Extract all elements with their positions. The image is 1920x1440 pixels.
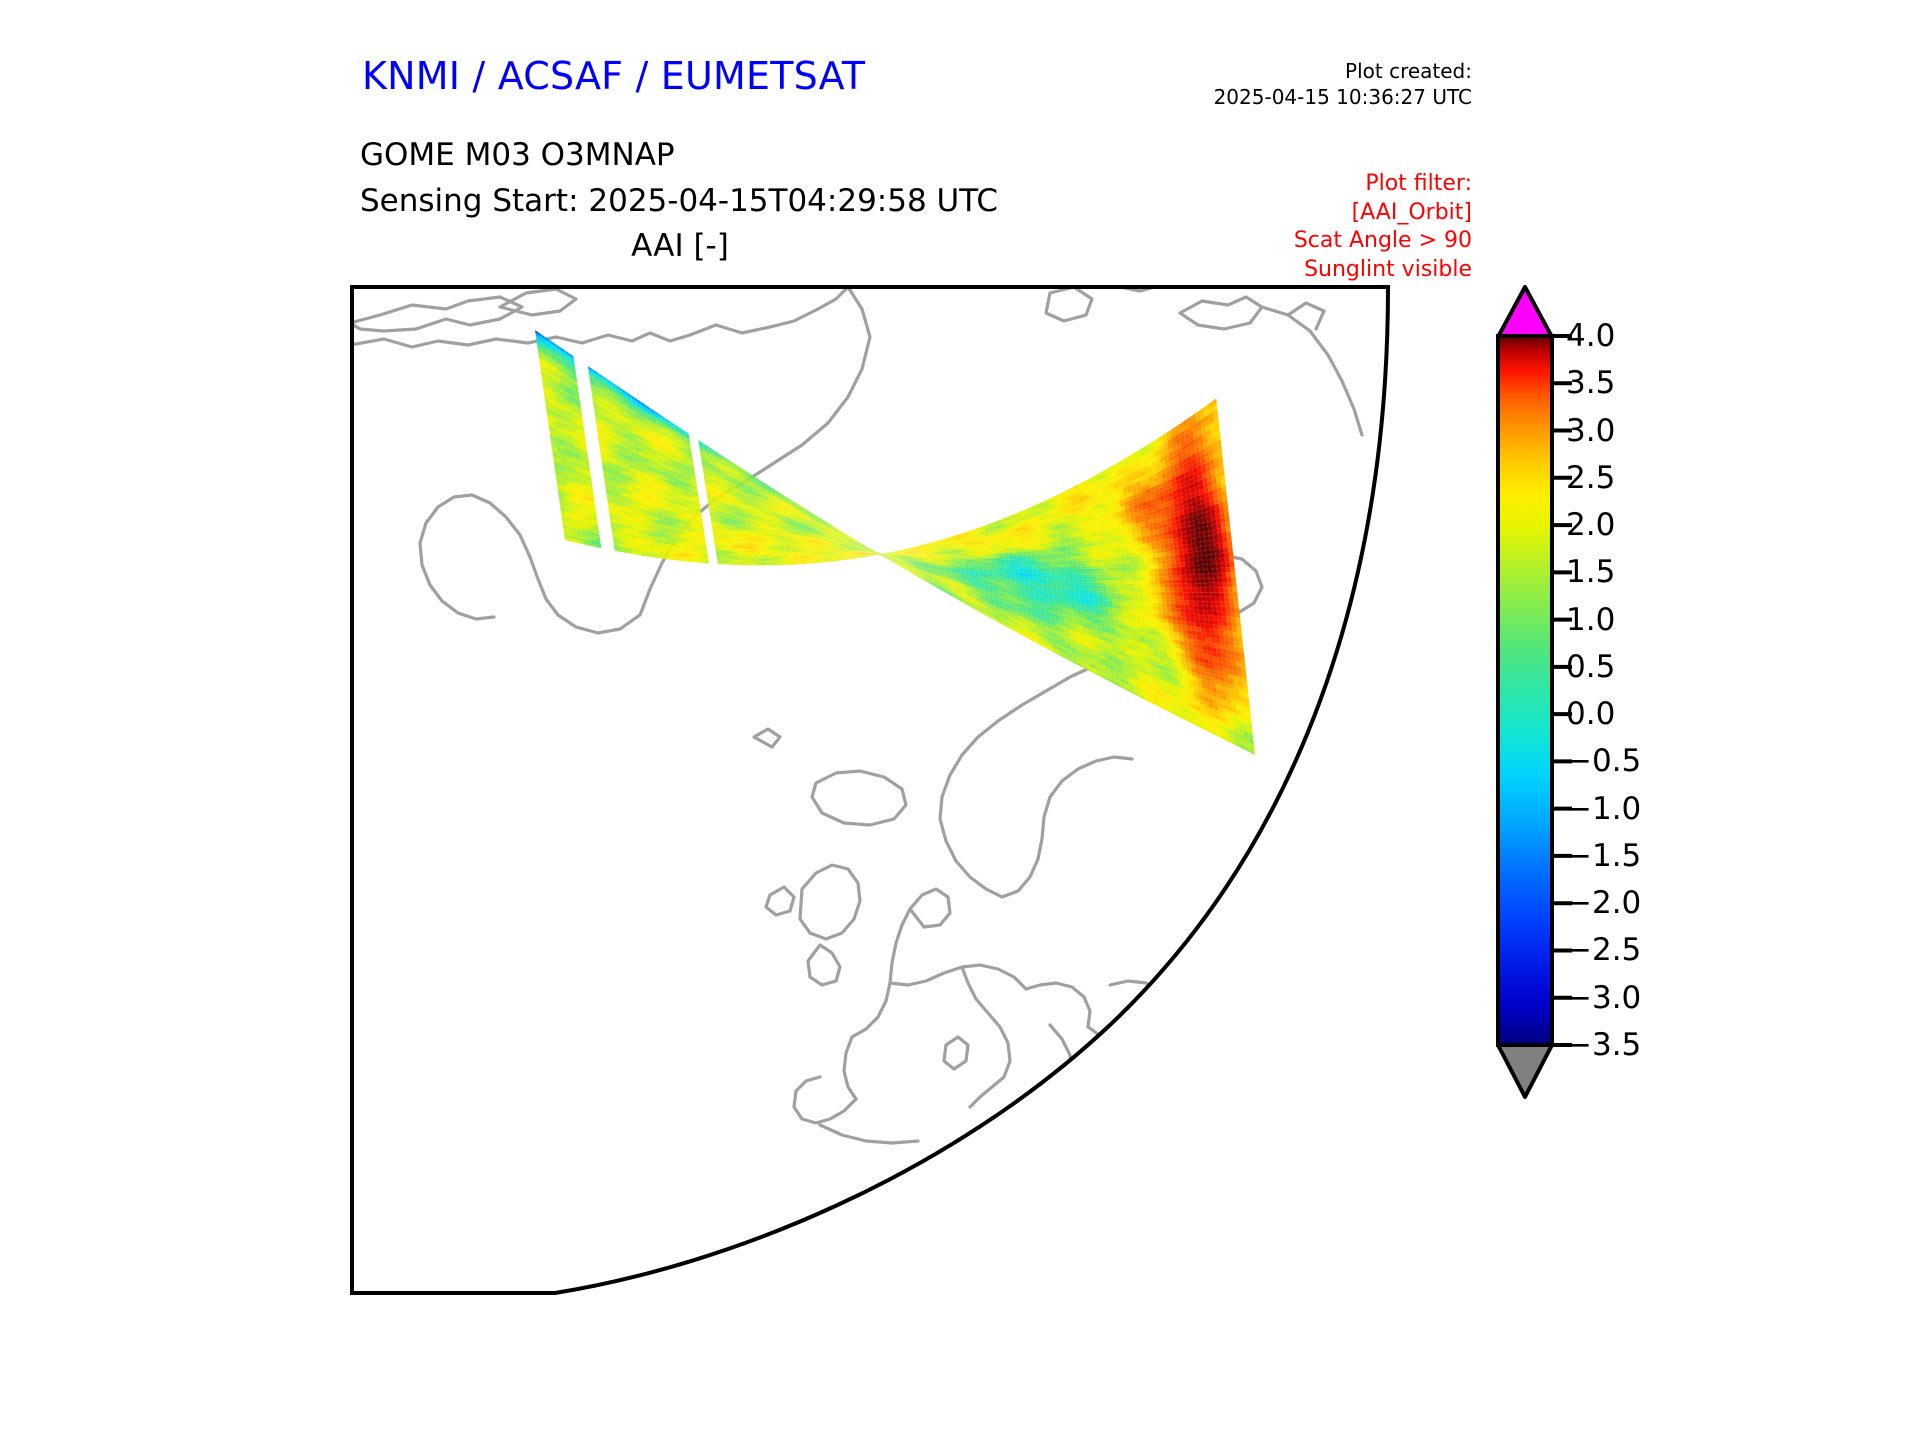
colorbar-tick-label: 0.0 [1566,696,1615,732]
colorbar-tick-label: −2.5 [1566,932,1641,968]
plot-created-block: Plot created: 2025-04-15 10:36:27 UTC [1112,58,1472,110]
product-title: GOME M03 O3MNAP [360,137,675,173]
colorbar-under-arrow [1498,1045,1552,1097]
map-panel [350,285,1390,1305]
colorbar-tick-label: 2.5 [1566,460,1615,496]
colorbar-tick-label: −1.5 [1566,838,1641,874]
colorbar-tick-label: 3.0 [1566,413,1615,449]
colorbar-tick-label: −2.0 [1566,885,1641,921]
colorbar-svg [1488,285,1818,1345]
plot-created-label: Plot created: [1112,58,1472,84]
colorbar-tick-label: −3.5 [1566,1027,1641,1063]
colorbar-tick-label: −0.5 [1566,743,1641,779]
colorbar-tick-label: 2.0 [1566,507,1615,543]
colorbar-tick-label: 4.0 [1566,318,1615,354]
map-contents [350,285,1390,1305]
plot-filter-label: Plot filter: [1112,170,1472,199]
plot-filter-block: Plot filter: [AAI_Orbit] Scat Angle > 90… [1112,170,1472,284]
plot-title: AAI [-] [0,228,1360,264]
plot-filter-name: [AAI_Orbit] [1112,199,1472,228]
colorbar-tick-label: −1.0 [1566,791,1641,827]
colorbar-tick-label: 1.0 [1566,602,1615,638]
map-background [350,285,1390,1305]
colorbar-tick-label: 3.5 [1566,365,1615,401]
plot-created-timestamp: 2025-04-15 10:36:27 UTC [1112,84,1472,110]
colorbar-gradient [1498,336,1552,1045]
map-svg [350,285,1390,1305]
colorbar-panel: 4.03.53.02.52.01.51.00.50.0−0.5−1.0−1.5−… [1488,285,1818,1345]
colorbar-over-arrow [1498,287,1552,337]
sensing-start: Sensing Start: 2025-04-15T04:29:58 UTC [360,183,998,219]
colorbar-tick-label: 1.5 [1566,554,1615,590]
colorbar-tick-label: 0.5 [1566,649,1615,685]
colorbar-tick-label: −3.0 [1566,980,1641,1016]
figure-canvas: KNMI / ACSAF / EUMETSAT Plot created: 20… [0,0,1920,1440]
organisation-title: KNMI / ACSAF / EUMETSAT [362,54,865,98]
